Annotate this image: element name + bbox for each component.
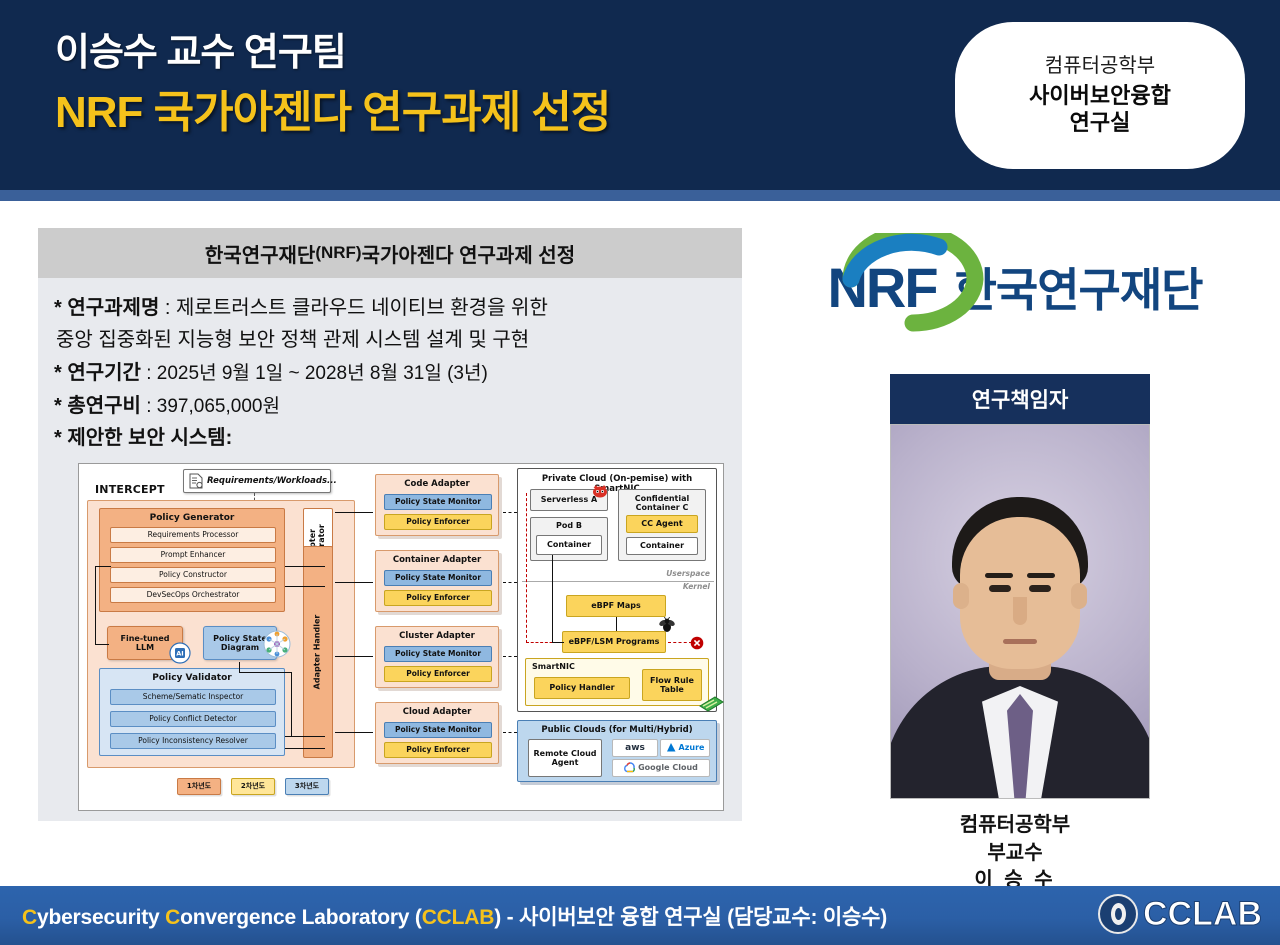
svg-text:AI: AI (176, 649, 183, 657)
panel-title-bar: 한국연구재단(NRF) 국가아젠다 연구과제 선정 (38, 228, 742, 278)
kernel-label: Kernel (683, 582, 710, 591)
state-graph-icon (263, 630, 291, 662)
pg-item: Requirements Processor (110, 527, 276, 543)
photo-eye-right (1029, 585, 1051, 592)
policy-generator-title: Policy Generator (100, 513, 284, 523)
adapter-title: Code Adapter (376, 479, 498, 489)
cc-container-box: Container (626, 537, 698, 555)
cclab-wordmark: CCLAB (1143, 895, 1262, 934)
connector (285, 566, 325, 567)
bullet-label: 총연구비 (67, 395, 141, 417)
feedback-line (95, 644, 109, 645)
bullet-row: * 제안한 보안 시스템: (54, 422, 726, 454)
adapter-monitor: Policy State Monitor (384, 570, 492, 586)
cclab-logo: CCLAB (1098, 894, 1262, 934)
photo-ear-right (1071, 583, 1087, 609)
header-banner: 이승수 교수 연구팀 NRF 국가아젠다 연구과제 선정 컴퓨터공학부 사이버보… (0, 0, 1280, 190)
adapter-enforcer: Policy Enforcer (384, 742, 492, 758)
attack-path-vertical (526, 493, 527, 643)
page-title-nrf: NRF (55, 88, 154, 137)
adapter-enforcer: Policy Enforcer (384, 514, 492, 530)
bullet-row: * 연구기간 : 2025년 9월 1일 ~ 2028년 8월 31일 (3년) (54, 357, 726, 390)
connector (285, 586, 325, 587)
adapter-card: Container Adapter Policy State Monitor P… (375, 550, 499, 612)
ebpf-programs-box: eBPF/LSM Programs (562, 631, 666, 653)
bullet-marker: * (54, 297, 67, 319)
psd-line1: Policy State (213, 634, 267, 643)
pv-item: Policy Conflict Detector (110, 711, 276, 727)
public-clouds-box: Public Clouds (for Multi/Hybrid) Remote … (517, 720, 717, 782)
cc-agent-box: CC Agent (626, 515, 698, 533)
photo-face (960, 517, 1080, 669)
userspace-label: Userspace (666, 569, 710, 578)
adapter-monitor: Policy State Monitor (384, 722, 492, 738)
bullet-row: 중앙 집중화된 지능형 보안 정책 관제 시스템 설계 및 구현 (54, 324, 726, 356)
title-block: 이승수 교수 연구팀 NRF 국가아젠다 연구과제 선정 (55, 30, 610, 141)
photo-eye-left (989, 585, 1011, 592)
footer-t1: ybersecurity (37, 906, 165, 929)
adapter-enforcer: Policy Enforcer (384, 590, 492, 606)
panel-title-b: (NRF) (315, 243, 361, 263)
policy-validator-box: Policy Validator Scheme/Sematic Inspecto… (99, 668, 285, 756)
bullet-label: 연구과제명 (67, 297, 159, 319)
connector (285, 736, 325, 737)
lab-badge: 컴퓨터공학부 사이버보안융합 연구실 (955, 22, 1245, 169)
page-title-line1: 이승수 교수 연구팀 (55, 30, 610, 78)
smartnic-box: SmartNIC Policy Handler Flow Rule Table (525, 658, 709, 706)
slide-root: 이승수 교수 연구팀 NRF 국가아젠다 연구과제 선정 컴퓨터공학부 사이버보… (0, 0, 1280, 945)
panel-body: * 연구과제명 : 제로트러스트 클라우드 네이티브 환경을 위한 중앙 집중화… (38, 278, 742, 821)
pv-item: Scheme/Sematic Inspector (110, 689, 276, 705)
adapter-monitor: Policy State Monitor (384, 494, 492, 510)
adapter-card: Code Adapter Policy State Monitor Policy… (375, 474, 499, 536)
bullet-sep: : (141, 396, 157, 417)
llm-line1: Fine-tuned (120, 634, 169, 643)
smartnic-title: SmartNIC (532, 662, 575, 671)
photo-mouth (1003, 639, 1037, 644)
connector-dashed (503, 512, 517, 513)
bullet-marker: * (54, 427, 67, 449)
validator-psd-line (239, 672, 292, 673)
diagram-legend: 1차년도 2차년도 3차년도 (177, 778, 329, 795)
ebpf-maps-box: eBPF Maps (566, 595, 666, 617)
adapter-enforcer: Policy Enforcer (384, 666, 492, 682)
pg-item: Policy Constructor (110, 567, 276, 583)
bullet-value: 중앙 집중화된 지능형 보안 정책 관제 시스템 설계 및 구현 (56, 329, 529, 351)
legend-year3: 3차년도 (285, 778, 329, 795)
pi-dept: 컴퓨터공학부 (780, 812, 1250, 840)
footer-cclab: CCLAB (422, 906, 495, 929)
bug-icon (658, 617, 676, 637)
attacker-icon (592, 483, 608, 502)
pg-item: Prompt Enhancer (110, 547, 276, 563)
bullet-sep: : (141, 363, 157, 384)
pi-photo (890, 424, 1150, 799)
pi-header: 연구책임자 (890, 374, 1150, 424)
photo-nose (1013, 597, 1027, 625)
public-clouds-title: Public Clouds (for Multi/Hybrid) (518, 725, 716, 735)
adapter-handler-box: Adapter Handler (303, 546, 333, 758)
panel-title-c: 국가아젠다 연구과제 선정 (362, 239, 576, 268)
footer-c1: C (22, 906, 37, 929)
bullet-row: * 총연구비 : 397,065,000원 (54, 390, 726, 423)
architecture-diagram: INTERCEPT Requirements/Workloads... Poli… (78, 463, 724, 811)
lab-badge-name2: 연구실 (1070, 110, 1131, 137)
nrf-swoosh-icon (823, 233, 1023, 337)
connector-dashed (503, 656, 517, 657)
footer-c2: C (165, 906, 180, 929)
page-title-rest: 국가아젠다 연구과제 선정 (154, 88, 611, 137)
feedback-line (95, 566, 111, 567)
bullet-value: 2025년 9월 1일 ~ 2028년 8월 31일 (3년) (157, 363, 488, 384)
intercept-label: INTERCEPT (95, 483, 165, 496)
bullet-label: 연구기간 (67, 362, 141, 384)
pg-item: DevSecOps Orchestrator (110, 587, 276, 603)
photo-ear-left (953, 583, 969, 609)
aws-logo: aws (612, 739, 658, 757)
pod-to-ebpf-line (552, 555, 553, 643)
azure-logo: Azure (660, 739, 710, 757)
requirements-label: Requirements/Workloads... (207, 476, 337, 486)
connector (335, 582, 373, 583)
connector-dashed (503, 582, 517, 583)
ai-chip-icon: AI (169, 642, 191, 668)
document-icon (189, 473, 203, 489)
maps-programs-link (616, 617, 617, 631)
adapter-title: Cluster Adapter (376, 631, 498, 641)
header-accent-stripe (0, 190, 1280, 201)
requirements-workloads-box: Requirements/Workloads... (183, 469, 331, 493)
left-content-panel: 한국연구재단(NRF) 국가아젠다 연구과제 선정 * 연구과제명 : 제로트러… (38, 228, 742, 821)
remote-cloud-agent-box: Remote Cloud Agent (528, 739, 602, 777)
bullet-marker: * (54, 395, 67, 417)
blocked-icon (690, 635, 704, 654)
connector (335, 656, 373, 657)
footer-t3: ) - 사이버보안 융합 연구실 (담당교수: 이승수) (494, 906, 887, 929)
lab-badge-dept: 컴퓨터공학부 (1045, 54, 1155, 78)
footer-text: Cybersecurity Convergence Laboratory (CC… (22, 901, 887, 931)
connector (335, 732, 373, 733)
pi-caption: 컴퓨터공학부 부교수 이 승 수 (780, 812, 1250, 895)
footer-bar: Cybersecurity Convergence Laboratory (CC… (0, 886, 1280, 945)
adapter-card: Cluster Adapter Policy State Monitor Pol… (375, 626, 499, 688)
footer-t2: onvergence Laboratory ( (180, 906, 422, 929)
feedback-line (95, 566, 96, 644)
bullet-row: * 연구과제명 : 제로트러스트 클라우드 네이티브 환경을 위한 (54, 292, 726, 324)
policy-generator-box: Policy Generator Requirements Processor … (99, 508, 285, 612)
validator-psd-line (291, 672, 292, 736)
flow-rule-table-box: Flow Rule Table (642, 669, 702, 701)
bullet-label: 제안한 보안 시스템: (67, 427, 232, 449)
bullet-value: 397,065,000원 (157, 396, 280, 417)
pv-item: Policy Inconsistency Resolver (110, 733, 276, 749)
connector-dashed (503, 732, 517, 733)
nic-card-icon (697, 694, 725, 718)
right-panel: NRF 한국연구재단 연구책임자 컴퓨터공학부 부교수 이 승 수 (780, 228, 1250, 346)
legend-year1: 1차년도 (177, 778, 221, 795)
photo-brow-right (1027, 573, 1055, 578)
pi-rank: 부교수 (780, 840, 1250, 868)
lab-badge-name1: 사이버보안융합 (1029, 83, 1171, 110)
policy-validator-title: Policy Validator (100, 673, 284, 683)
legend-year2: 2차년도 (231, 778, 275, 795)
validator-psd-line (239, 662, 240, 673)
pod-container: Container (536, 535, 602, 555)
adapter-title: Container Adapter (376, 555, 498, 565)
photo-brow-left (985, 573, 1013, 578)
psd-line2: Diagram (221, 643, 259, 652)
google-cloud-logo: Google Cloud (612, 759, 710, 777)
adapter-card: Cloud Adapter Policy State Monitor Polic… (375, 702, 499, 764)
pod-to-ebpf-arrow (552, 642, 564, 643)
page-title-line2: NRF 국가아젠다 연구과제 선정 (55, 84, 610, 141)
llm-line2: LLM (136, 643, 154, 652)
cclab-mark-icon (1098, 894, 1138, 934)
policy-handler-box: Policy Handler (534, 677, 630, 699)
adapter-title: Cloud Adapter (376, 707, 498, 717)
panel-title-a: 한국연구재단 (205, 239, 315, 268)
bullet-sep: : (159, 297, 176, 319)
attack-flow-line (668, 642, 692, 643)
bullet-marker: * (54, 362, 67, 384)
connector (335, 512, 373, 513)
adapter-monitor: Policy State Monitor (384, 646, 492, 662)
bullet-value: 제로트러스트 클라우드 네이티브 환경을 위한 (176, 297, 548, 319)
connector (285, 748, 325, 749)
nrf-logo: NRF 한국연구재단 (780, 228, 1250, 346)
adapter-handler-label: Adapter Handler (314, 614, 323, 689)
